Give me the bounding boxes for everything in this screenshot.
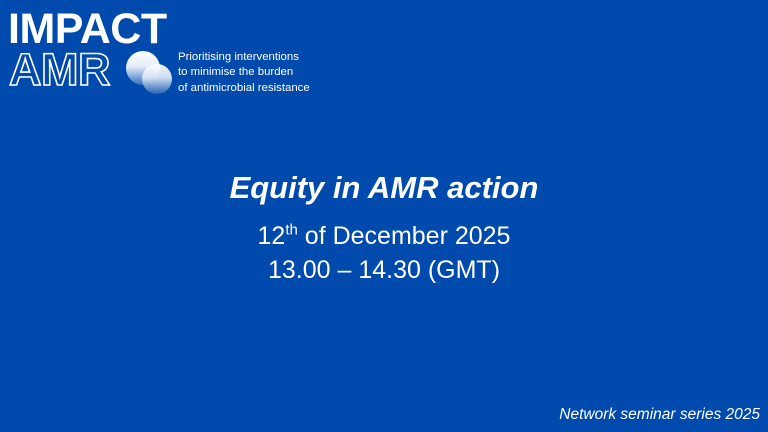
impact-amr-logo: IMPACT AMR (6, 6, 346, 98)
event-date-day: 12 (258, 222, 286, 250)
logo-tagline: Prioritising interventions to minimise t… (178, 50, 310, 96)
logo-tagline-line-2: to minimise the burden (178, 65, 310, 80)
event-date-month-year: of December 2025 (298, 222, 511, 250)
presentation-slide: IMPACT AMR (0, 0, 768, 432)
footer-series-label: Network seminar series 2025 (559, 405, 760, 425)
event-time: 13.00 – 14.30 (GMT) (0, 254, 768, 286)
slide-centre-content: Equity in AMR action 12th of December 20… (0, 168, 768, 286)
logo-tagline-line-1: Prioritising interventions (178, 50, 310, 65)
slide-title: Equity in AMR action (0, 168, 768, 208)
event-date-ordinal-suffix: th (285, 222, 298, 239)
event-date: 12th of December 2025 (0, 220, 768, 252)
two-overlapping-circles-icon (123, 50, 175, 96)
logo-wordmark-amr: AMR (9, 47, 110, 92)
logo-tagline-line-3: of antimicrobial resistance (178, 81, 310, 96)
